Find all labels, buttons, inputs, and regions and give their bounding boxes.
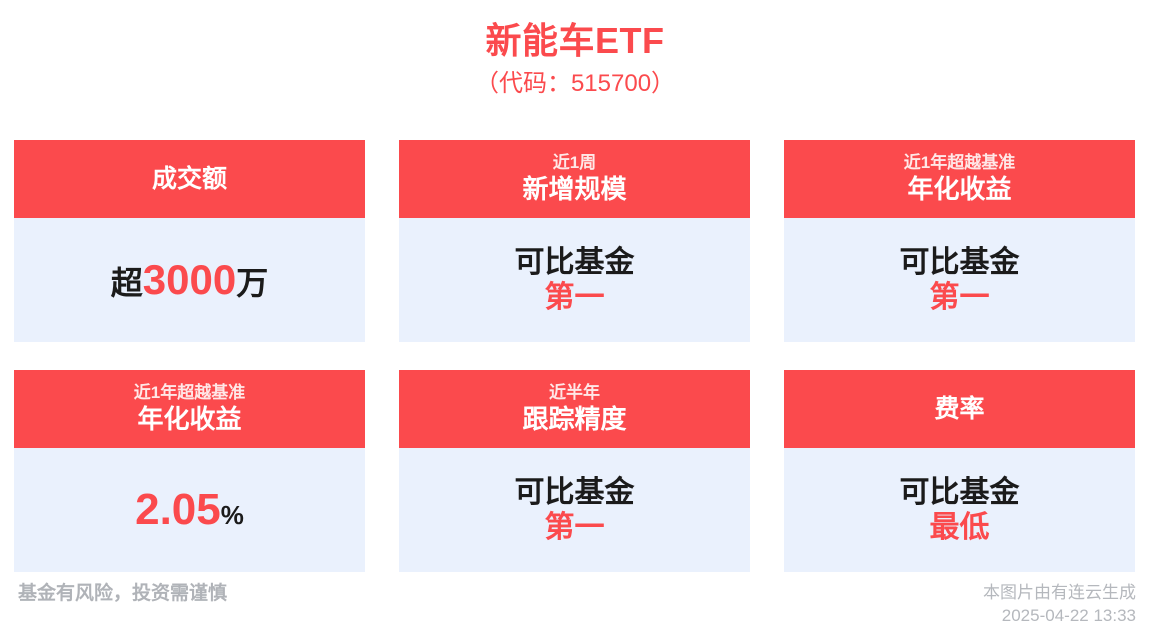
card-header-tracking-accuracy: 近半年 跟踪精度 (399, 370, 750, 448)
metric-card-excess-return-rank: 近1年超越基准 年化收益 可比基金 第一 (784, 140, 1135, 342)
metric-value-prefix: 超 (111, 265, 143, 301)
card-body-fee-rate: 可比基金 最低 (784, 448, 1135, 572)
metric-value-line2: 第一 (545, 280, 605, 315)
card-header-main-label: 年化收益 (907, 174, 1011, 205)
card-body-turnover: 超3000万 (14, 218, 365, 342)
metric-value-line1: 可比基金 (515, 475, 635, 510)
metric-value-number: 2.05 (135, 485, 221, 534)
metric-value-line1: 可比基金 (515, 245, 635, 280)
risk-disclaimer: 基金有风险，投资需谨慎 (18, 582, 227, 607)
card-header-sub-label: 近1周 (553, 153, 596, 173)
card-header-sub-label: 近1年超越基准 (904, 153, 1015, 173)
metric-value-line2: 第一 (545, 510, 605, 545)
card-header-new-scale: 近1周 新增规模 (399, 140, 750, 218)
metric-card-fee-rate: 费率 可比基金 最低 (784, 370, 1135, 572)
card-header-excess-return-value: 近1年超越基准 年化收益 (14, 370, 365, 448)
metric-card-turnover: 成交额 超3000万 (14, 140, 365, 342)
card-header-main-label: 费率 (934, 394, 984, 424)
card-header-main-label: 新增规模 (522, 174, 626, 205)
card-header-excess-return-rank: 近1年超越基准 年化收益 (784, 140, 1135, 218)
card-header-fee-rate: 费率 (784, 370, 1135, 448)
page-header: 新能车ETF （代码：515700） (0, 0, 1150, 102)
page-title: 新能车ETF (0, 18, 1150, 63)
metric-card-excess-return-value: 近1年超越基准 年化收益 2.05% (14, 370, 365, 572)
metric-value-line2: 最低 (930, 510, 990, 545)
fund-code-subtitle: （代码：515700） (0, 67, 1150, 102)
metric-card-tracking-accuracy: 近半年 跟踪精度 可比基金 第一 (399, 370, 750, 572)
metric-value-turnover: 超3000万 (111, 257, 268, 303)
card-header-main-label: 跟踪精度 (522, 404, 626, 435)
metric-card-grid: 成交额 超3000万 近1周 新增规模 可比基金 第一 近1年超越基准 (14, 140, 1136, 572)
credit-source-line: 本图片由有连云生成 (983, 582, 1136, 605)
metric-value-line1: 可比基金 (900, 245, 1020, 280)
credit-timestamp: 2025-04-22 13:33 (983, 605, 1136, 628)
card-body-excess-return-rank: 可比基金 第一 (784, 218, 1135, 342)
card-header-sub-label: 近半年 (549, 383, 600, 403)
generation-credit: 本图片由有连云生成 2025-04-22 13:33 (983, 582, 1136, 628)
page-footer: 基金有风险，投资需谨慎 本图片由有连云生成 2025-04-22 13:33 (0, 566, 1150, 632)
card-header-sub-label: 近1年超越基准 (134, 383, 245, 403)
metric-value-number: 3000 (143, 256, 236, 303)
etf-infographic-page: 新能车ETF （代码：515700） 成交额 超3000万 近1周 新增规模 可… (0, 0, 1150, 632)
metric-value-suffix: 万 (236, 265, 268, 301)
card-body-excess-return-value: 2.05% (14, 448, 365, 572)
card-header-turnover: 成交额 (14, 140, 365, 218)
metric-value-line1: 可比基金 (900, 475, 1020, 510)
card-body-tracking-accuracy: 可比基金 第一 (399, 448, 750, 572)
metric-value-unit: % (221, 500, 244, 530)
metric-value-line2: 第一 (930, 280, 990, 315)
metric-value-percent: 2.05% (135, 486, 244, 534)
card-header-main-label: 年化收益 (137, 404, 241, 435)
card-body-new-scale: 可比基金 第一 (399, 218, 750, 342)
metric-card-new-scale: 近1周 新增规模 可比基金 第一 (399, 140, 750, 342)
card-header-main-label: 成交额 (152, 164, 227, 194)
